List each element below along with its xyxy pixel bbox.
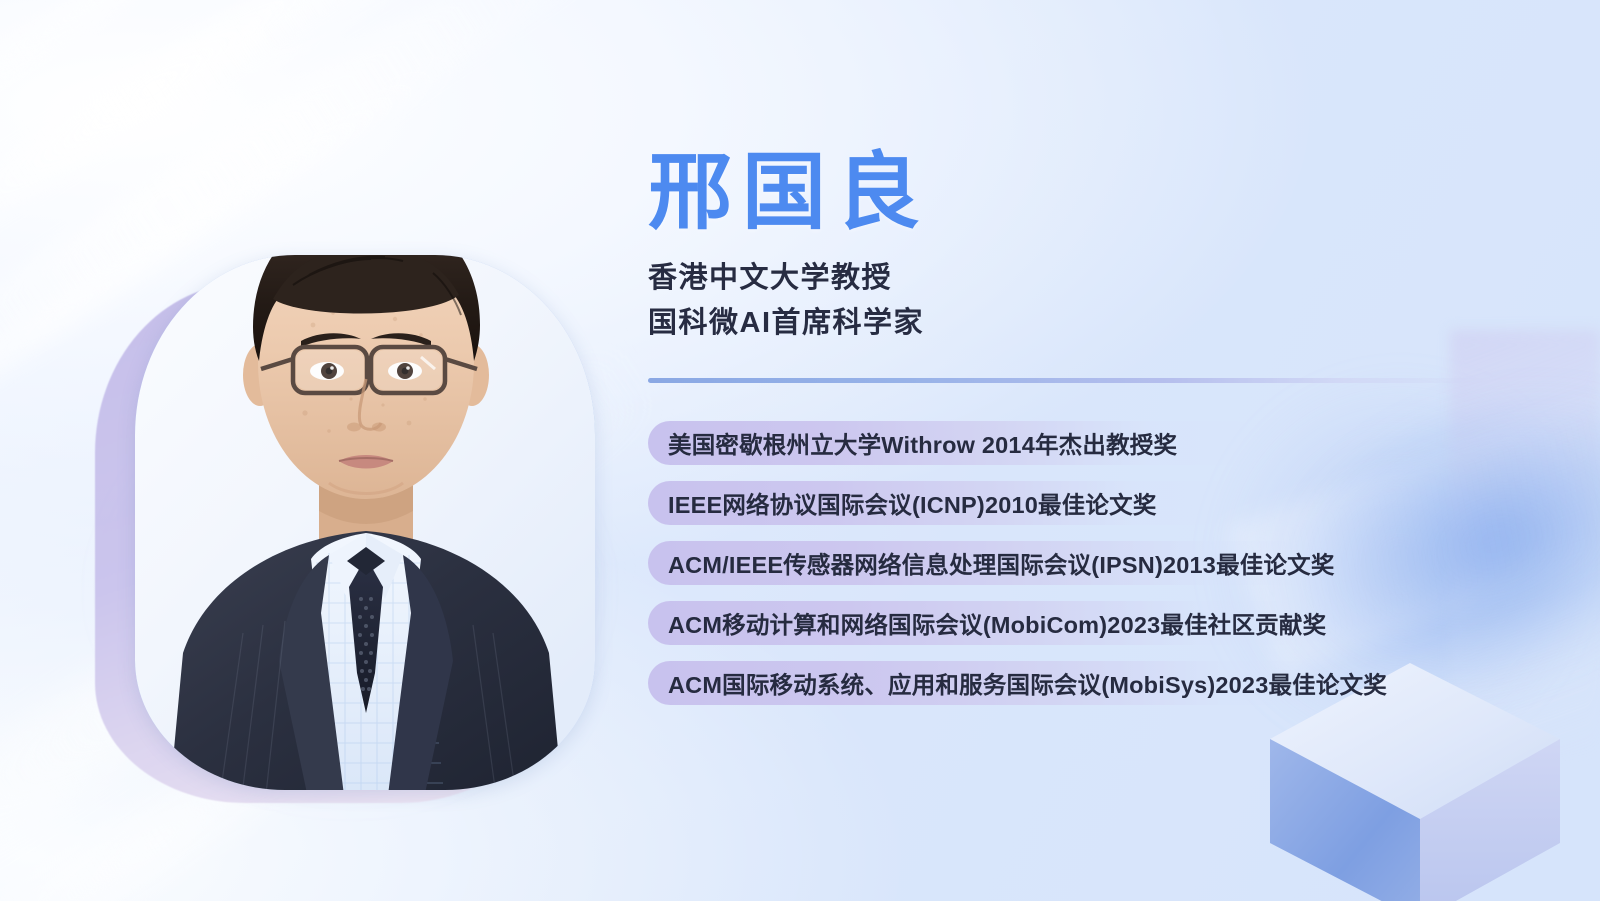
award-label: ACM国际移动系统、应用和服务国际会议(MobiSys)2023最佳论文奖 xyxy=(668,666,1387,700)
award-label: 美国密歇根州立大学Withrow 2014年杰出教授奖 xyxy=(668,426,1177,460)
portrait-container xyxy=(95,255,595,815)
list-item: ACM国际移动系统、应用和服务国际会议(MobiSys)2023最佳论文奖 xyxy=(648,661,1548,705)
list-item: ACM/IEEE传感器网络信息处理国际会议(IPSN)2013最佳论文奖 xyxy=(648,541,1548,585)
award-label: IEEE网络协议国际会议(ICNP)2010最佳论文奖 xyxy=(668,486,1157,520)
awards-list: 美国密歇根州立大学Withrow 2014年杰出教授奖 IEEE网络协议国际会议… xyxy=(648,421,1548,705)
portrait-frame xyxy=(135,255,595,790)
affiliation-line-2: 国科微AI首席科学家 xyxy=(648,301,1548,346)
award-label: ACM移动计算和网络国际会议(MobiCom)2023最佳社区贡献奖 xyxy=(668,606,1326,640)
list-item: IEEE网络协议国际会议(ICNP)2010最佳论文奖 xyxy=(648,481,1548,525)
page-title: 邢国良 xyxy=(648,150,1548,234)
profile-content: 邢国良 香港中文大学教授 国科微AI首席科学家 美国密歇根州立大学Withrow… xyxy=(648,150,1548,705)
avatar xyxy=(135,255,595,790)
list-item: 美国密歇根州立大学Withrow 2014年杰出教授奖 xyxy=(648,421,1548,465)
affiliation-line-1: 香港中文大学教授 xyxy=(648,256,1548,301)
subtitle-block: 香港中文大学教授 国科微AI首席科学家 xyxy=(648,256,1548,346)
section-divider xyxy=(648,378,1493,383)
list-item: ACM移动计算和网络国际会议(MobiCom)2023最佳社区贡献奖 xyxy=(648,601,1548,645)
award-label: ACM/IEEE传感器网络信息处理国际会议(IPSN)2013最佳论文奖 xyxy=(668,546,1335,580)
